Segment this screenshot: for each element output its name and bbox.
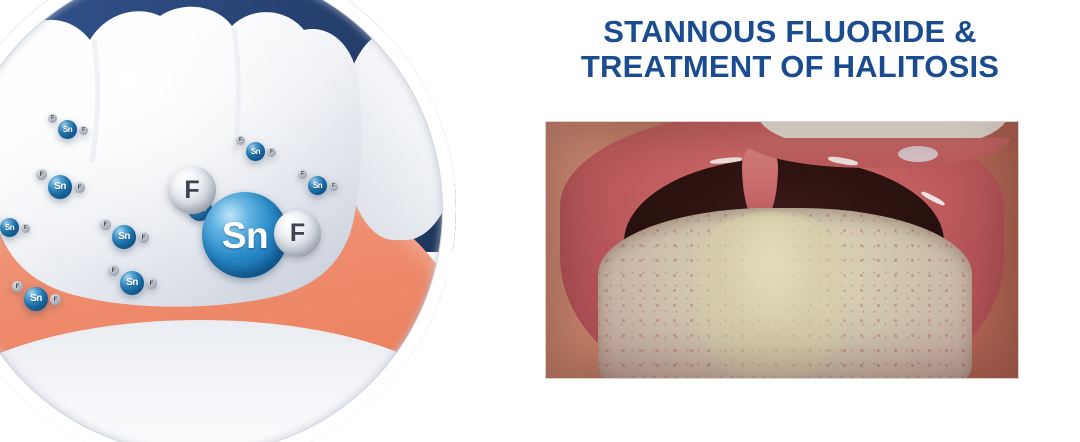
fluoride-atom: F <box>100 219 111 230</box>
fluoride-atom: F <box>267 148 276 157</box>
fluoride-atom: F <box>12 281 23 292</box>
stannous-atom: Sn <box>0 218 19 237</box>
fluoride-atom: F <box>146 278 157 289</box>
stannous-fluoride-molecule: F Sn F <box>48 114 90 142</box>
stannous-atom: Sn <box>24 287 48 311</box>
fluoride-atom: F <box>329 182 338 191</box>
stannous-fluoride-molecule: F Sn F <box>100 218 152 252</box>
fluoride-atom: F <box>168 166 216 214</box>
fluoride-atom: F <box>74 182 85 193</box>
page-title-line-2: TREATMENT OF HALITOSIS <box>520 49 1060 84</box>
page-title-line-1: STANNOUS FLUORIDE & <box>520 14 1060 49</box>
fluoride-atom: F <box>108 265 119 276</box>
open-mouth-coated-tongue-clinical-photo <box>546 122 1018 378</box>
fluoride-atom: F <box>36 169 47 180</box>
fluoride-atom: F <box>138 232 149 243</box>
slide-canvas: F Sn F F Sn F F Sn F F Sn F F Sn F F Sn … <box>0 0 1080 442</box>
stannous-atom: Sn <box>246 142 265 161</box>
stannous-fluoride-molecule-primary: F Sn F <box>162 162 322 282</box>
fluoride-atom: F <box>236 136 245 145</box>
fluoride-atom: F <box>48 114 57 123</box>
stannous-fluoride-molecule: F Sn F <box>12 280 64 314</box>
stannous-fluoride-tooth-illustration: F Sn F F Sn F F Sn F F Sn F F Sn F F Sn … <box>0 0 456 442</box>
fluoride-atom: F <box>50 294 61 305</box>
fluoride-atom: F <box>274 210 321 257</box>
photo-vignette <box>546 122 1018 378</box>
page-title: STANNOUS FLUORIDE & TREATMENT OF HALITOS… <box>520 14 1060 84</box>
stannous-fluoride-molecule: F Sn F <box>36 168 88 202</box>
stannous-atom: Sn <box>48 175 72 199</box>
stannous-atom: Sn <box>112 225 136 249</box>
stannous-fluoride-molecule: F Sn F <box>108 264 160 298</box>
stannous-fluoride-molecule: F Sn F <box>236 136 278 164</box>
stannous-atom: Sn <box>58 120 77 139</box>
fluoride-atom: F <box>79 126 88 135</box>
stannous-fluoride-molecule: F Sn F <box>0 212 32 240</box>
fluoride-atom: F <box>21 224 30 233</box>
stannous-atom: Sn <box>120 271 144 295</box>
